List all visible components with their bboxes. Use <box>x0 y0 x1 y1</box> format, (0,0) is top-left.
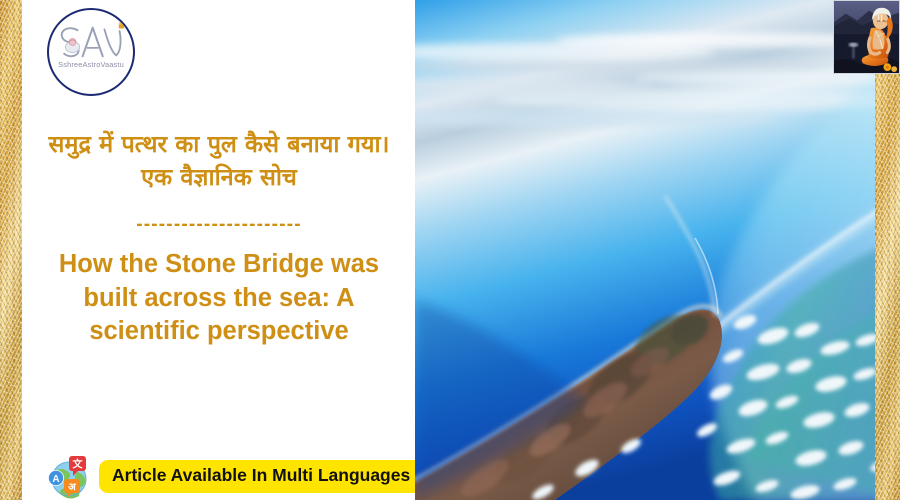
left-gold-border <box>0 0 22 500</box>
brand-logo[interactable]: SshreeAstroVaastu <box>47 8 135 96</box>
logo-brand-name: SshreeAstroVaastu <box>49 60 133 69</box>
headline-english: How the Stone Bridge was built across th… <box>34 248 404 349</box>
dashed-divider: ---------------------- <box>34 218 404 232</box>
right-gold-border <box>875 0 900 500</box>
translate-globe-icon: A 文 अ <box>46 453 93 500</box>
multi-language-banner[interactable]: A 文 अ Article Available In Multi Lan <box>46 453 423 500</box>
stone-bridge-aerial-photo <box>415 0 900 500</box>
multi-language-label[interactable]: Article Available In Multi Languages <box>99 460 423 492</box>
seated-sage-thumbnail[interactable] <box>833 0 900 74</box>
svg-text:A: A <box>52 474 59 485</box>
headline-hindi: समुद्र में पत्थर का पुल कैसे बनाया गया। … <box>34 128 404 195</box>
article-poster: SshreeAstroVaastu समुद्र में पत्थर का पु… <box>0 0 900 500</box>
svg-text:文: 文 <box>73 458 84 471</box>
text-panel: SshreeAstroVaastu समुद्र में पत्थर का पु… <box>22 0 415 500</box>
